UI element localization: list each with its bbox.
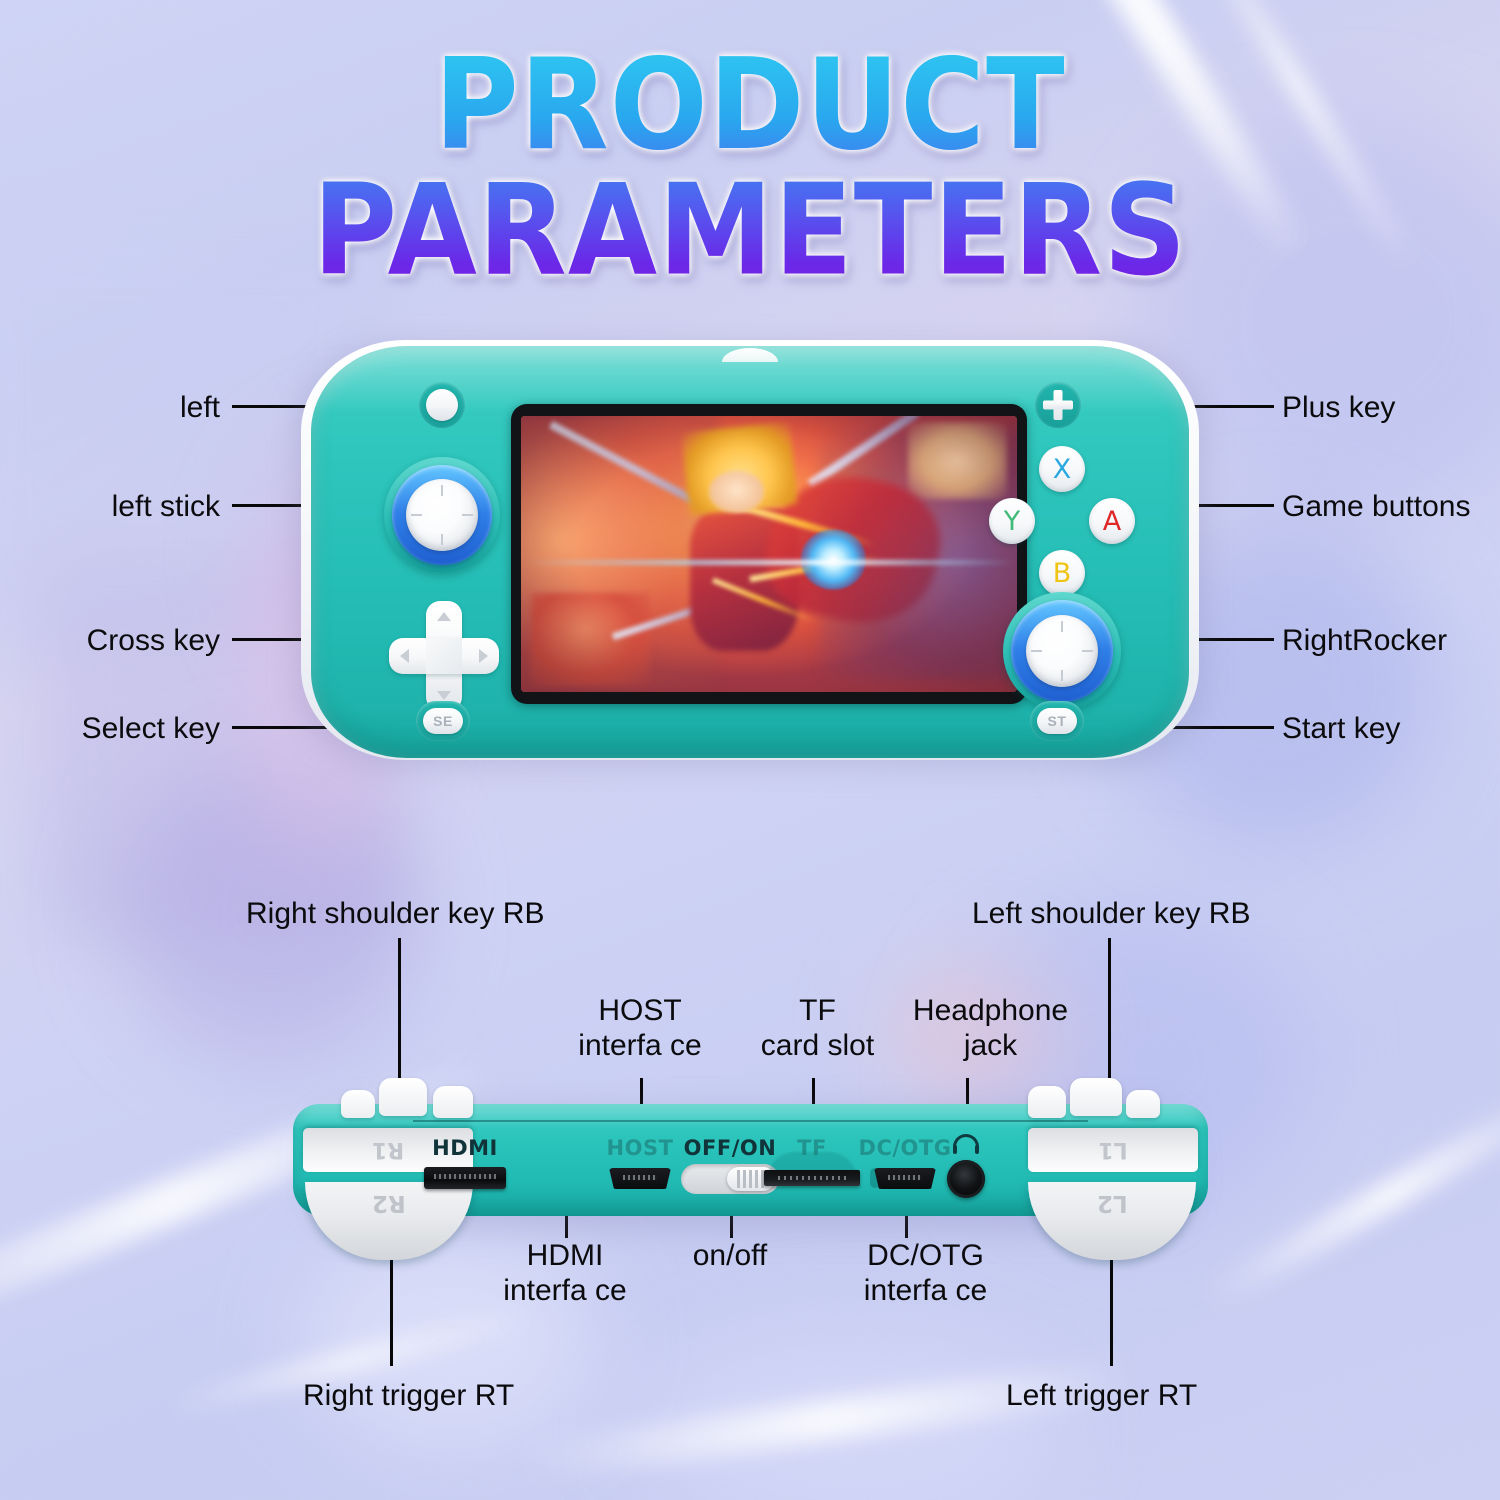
label-right-rocker: RightRocker — [1282, 623, 1447, 658]
label-tf-card-slot: TF card slot — [735, 993, 900, 1064]
button-y[interactable]: Y — [989, 498, 1035, 544]
game-buttons-cluster[interactable]: X Y A B — [987, 446, 1137, 596]
dpad-up-icon — [437, 612, 451, 621]
label-host-interface: HOST interfa ce — [540, 993, 740, 1064]
tf-card-slot[interactable] — [764, 1170, 860, 1186]
dpad-left-icon — [400, 649, 409, 663]
trigger-l2[interactable]: L2 — [1028, 1182, 1196, 1260]
grip-nub — [1028, 1086, 1066, 1118]
select-key-label: SE — [423, 708, 463, 734]
speaker-bump — [722, 348, 778, 362]
grip-nub — [1070, 1078, 1122, 1116]
button-x[interactable]: X — [1039, 446, 1085, 492]
handheld-console-front-view: SE X Y A B — [295, 338, 1205, 768]
cross-key-dpad[interactable] — [389, 601, 499, 711]
game-screen[interactable] — [521, 416, 1017, 692]
grip-nub — [433, 1086, 473, 1118]
grip-nub — [379, 1078, 427, 1116]
plus-key[interactable] — [1035, 382, 1081, 428]
button-a[interactable]: A — [1089, 498, 1135, 544]
label-right-trigger: Right trigger RT — [303, 1378, 514, 1413]
start-key[interactable]: ST — [1030, 701, 1084, 741]
label-right-shoulder-key: Right shoulder key RB — [246, 896, 544, 931]
label-headphone-jack: Headphone jack — [893, 993, 1088, 1064]
dc-otg-port[interactable] — [874, 1168, 936, 1189]
hdmi-port[interactable] — [424, 1167, 506, 1189]
dpad-right-icon — [479, 649, 488, 663]
label-start-key: Start key — [1282, 711, 1400, 746]
handheld-console-bottom-view: R1 R2 L1 L2 HDMI HOST OFF/ON TF DC/OTG — [283, 1090, 1218, 1250]
port-label-off-on: OFF/ON — [684, 1136, 777, 1160]
dpad-down-icon — [437, 691, 451, 700]
label-left-button: left — [0, 390, 220, 425]
leader-left-shoulder-key — [1108, 938, 1111, 1098]
label-left-stick: left stick — [0, 489, 220, 524]
port-label-dc-otg: DC/OTG — [859, 1136, 952, 1160]
page-title-container: PRODUCT PARAMETERS — [0, 56, 1500, 280]
label-left-trigger: Left trigger RT — [1006, 1378, 1197, 1413]
label-select-key: Select key — [0, 711, 220, 746]
headphone-jack-port[interactable] — [947, 1160, 985, 1198]
grip-nub — [1126, 1090, 1160, 1118]
left-button[interactable] — [419, 382, 465, 428]
port-label-host: HOST — [607, 1136, 674, 1160]
page-title: PRODUCT PARAMETERS — [0, 43, 1500, 294]
label-left-shoulder-key: Left shoulder key RB — [972, 896, 1250, 931]
left-stick[interactable] — [384, 457, 500, 573]
select-key[interactable]: SE — [416, 701, 470, 741]
game-artwork — [521, 416, 1017, 692]
console-seam-line — [413, 1120, 1088, 1122]
label-plus-key: Plus key — [1282, 390, 1395, 425]
shoulder-key-l1[interactable]: L1 — [1028, 1128, 1198, 1172]
start-key-label: ST — [1037, 708, 1077, 734]
label-game-buttons: Game buttons — [1282, 489, 1470, 524]
button-b[interactable]: B — [1039, 550, 1085, 596]
trigger-r2[interactable]: R2 — [305, 1182, 473, 1260]
port-label-hdmi: HDMI — [432, 1136, 498, 1160]
label-cross-key: Cross key — [0, 623, 220, 658]
screen-bezel — [511, 404, 1027, 704]
console-body: SE X Y A B — [311, 346, 1189, 758]
leader-right-shoulder-key — [398, 938, 401, 1098]
right-rocker-stick[interactable] — [1003, 592, 1121, 710]
grip-nub — [341, 1090, 375, 1118]
host-usb-port[interactable] — [609, 1168, 671, 1189]
